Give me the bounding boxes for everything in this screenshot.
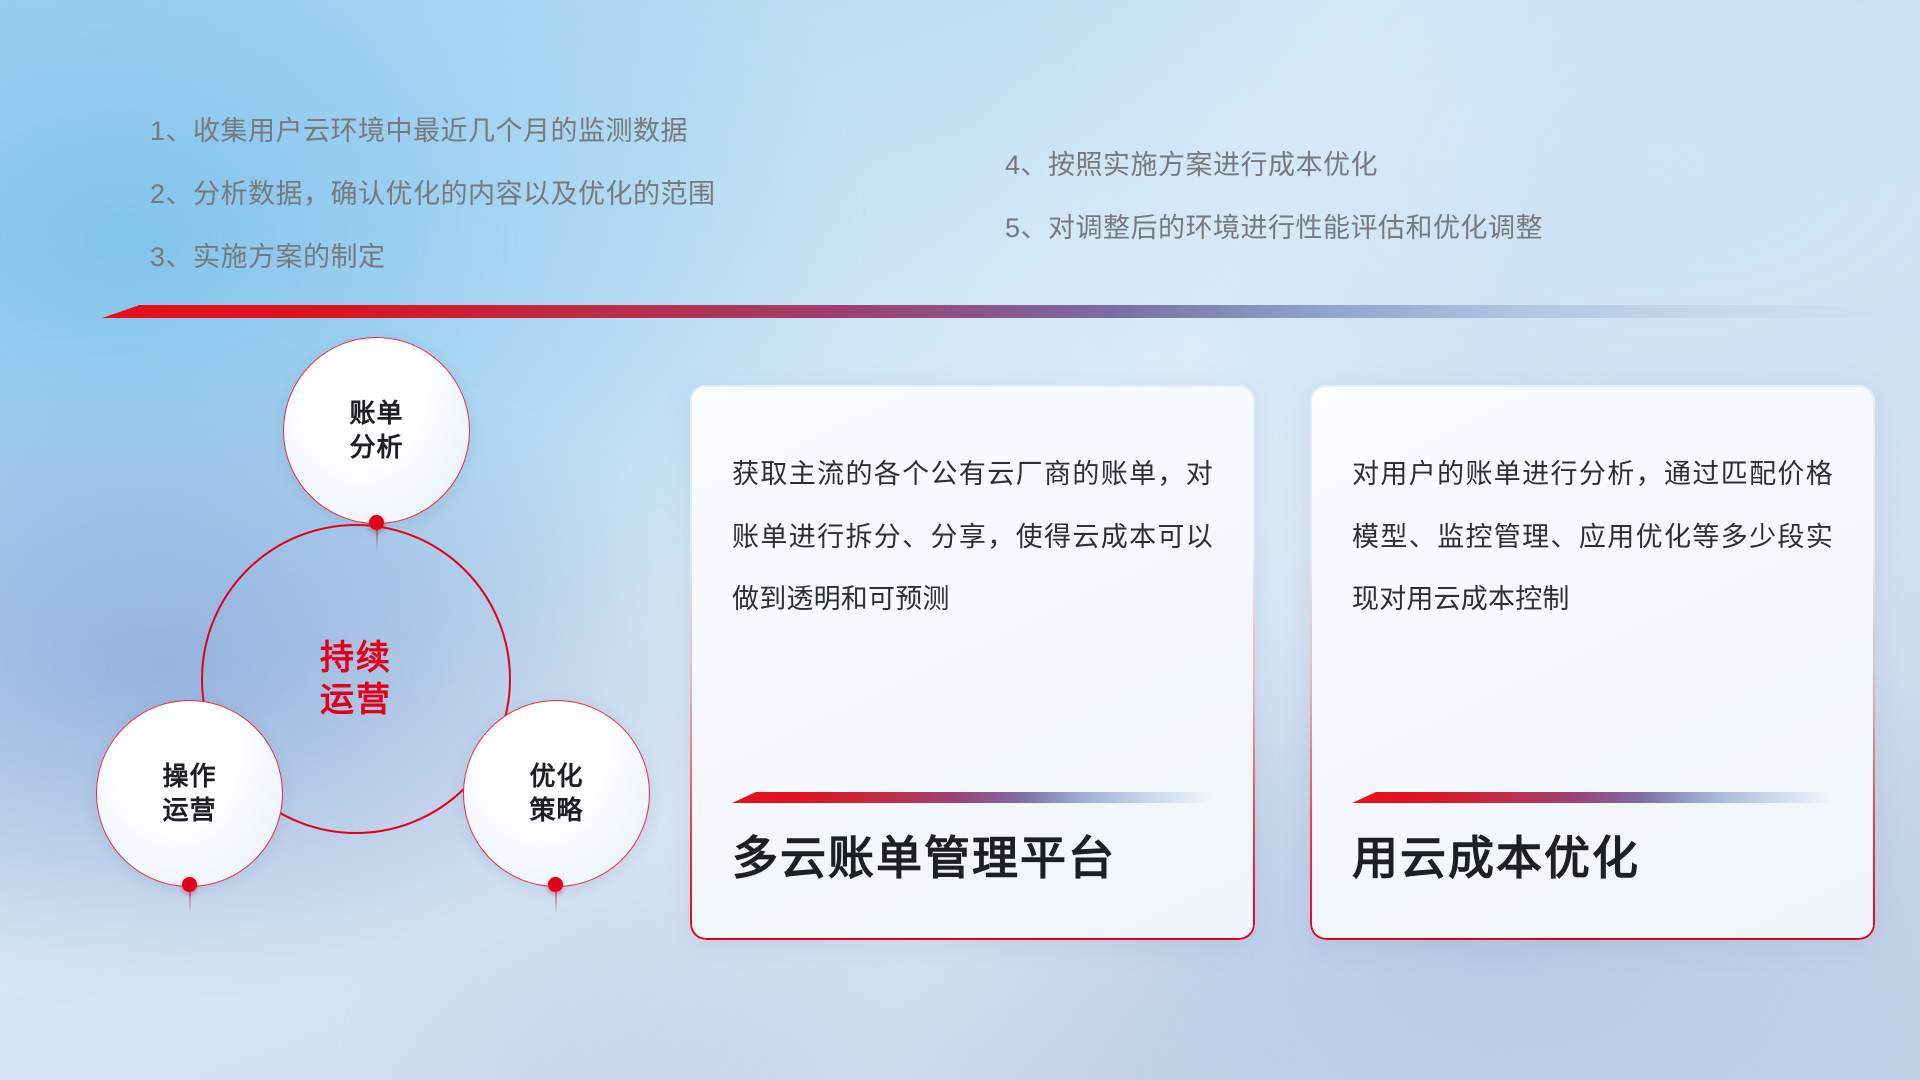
card-description: 对用户的账单进行分析，通过匹配价格模型、监控管理、应用优化等多少段实现对用云成本… [1352,443,1833,631]
bubble-label: 优化 策略 [529,760,583,828]
step-item: 2、分析数据，确认优化的内容以及优化的范围 [150,181,850,208]
bubble-label: 操作 运营 [162,760,216,828]
step-item: 4、按照实施方案进行成本优化 [1005,152,1765,179]
divider-gradient-bar [102,305,1892,318]
node-tail [555,892,557,914]
step-list-left: 1、收集用户云环境中最近几个月的监测数据 2、分析数据，确认优化的内容以及优化的… [150,118,850,271]
step-item: 5、对调整后的环境进行性能评估和优化调整 [1005,215,1765,242]
section-divider [102,305,1892,319]
card-title: 用云成本优化 [1352,822,1640,888]
card-accent-bar [732,792,1212,803]
step-item: 3、实施方案的制定 [150,244,850,271]
node-tail [376,530,378,552]
node-dot-right [548,877,563,892]
diagram-bubble-bill-analysis[interactable]: 账单 分析 [283,337,470,524]
card-accent-bar [1352,792,1832,803]
step-item: 1、收集用户云环境中最近几个月的监测数据 [150,118,850,145]
card-title: 多云账单管理平台 [732,822,1116,888]
card-description: 获取主流的各个公有云厂商的账单，对账单进行拆分、分享，使得云成本可以做到透明和可… [732,443,1213,631]
diagram-bubble-operation[interactable]: 操作 运营 [96,700,283,887]
feature-card-cloud-cost-optimization[interactable]: 对用户的账单进行分析，通过匹配价格模型、监控管理、应用优化等多少段实现对用云成本… [1310,385,1875,940]
node-tail [189,892,191,914]
node-dot-left [182,877,197,892]
cycle-diagram: 持续 运营 账单 分析 操作 运营 优化 策略 [108,352,628,952]
node-dot-top [369,515,384,530]
bubble-label: 账单 分析 [349,397,403,465]
diagram-bubble-optimize-strategy[interactable]: 优化 策略 [463,700,650,887]
feature-card-multi-cloud-bill-platform[interactable]: 获取主流的各个公有云厂商的账单，对账单进行拆分、分享，使得云成本可以做到透明和可… [690,385,1255,940]
step-list-right: 4、按照实施方案进行成本优化 5、对调整后的环境进行性能评估和优化调整 [1005,152,1765,242]
